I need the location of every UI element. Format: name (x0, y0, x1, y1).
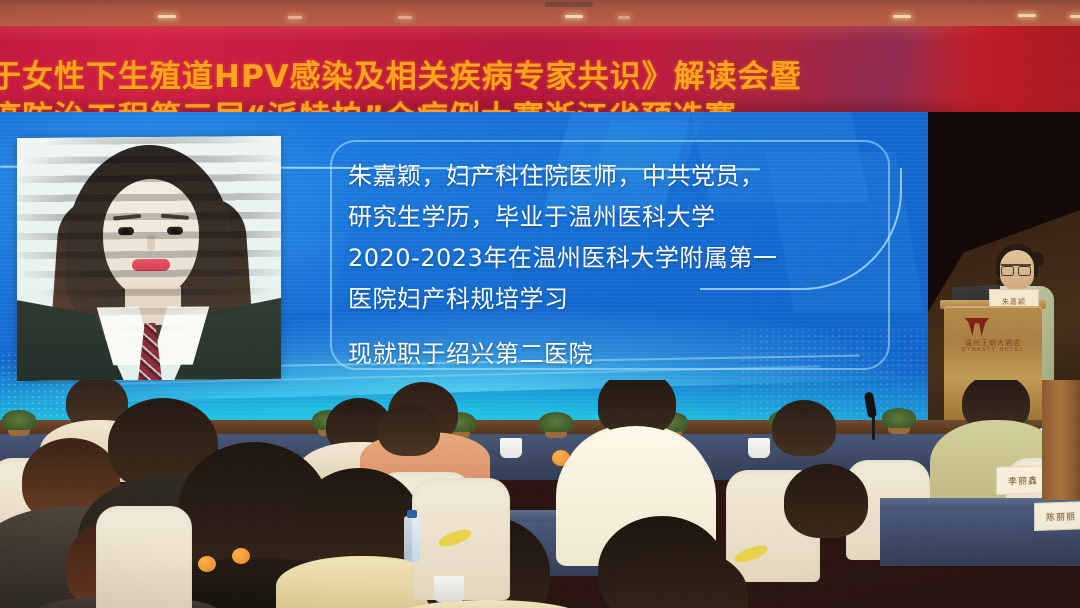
slide-line-3: 2020-2023年在温州医科大学附属第一 (348, 238, 893, 279)
slide-line-1: 朱嘉颖，妇产科住院医师，中共党员， (348, 156, 893, 197)
slide-line-5: 现就职于绍兴第二医院 (348, 334, 893, 375)
desk-microphone (864, 391, 877, 418)
cup (748, 438, 770, 458)
ceiling-light (288, 16, 302, 19)
banner-edge-shadow (920, 26, 1080, 112)
plant (2, 410, 36, 430)
banner-line-2: 癌防治工程第三届“派特柏”介病例大赛浙江省预选赛 (0, 92, 1000, 112)
hall-pillar (1042, 380, 1080, 500)
audience-area: 李丽鑫 陈丽丽 (0, 380, 1080, 608)
slide-line-4: 医院妇产科规培学习 (348, 279, 893, 320)
conference-photo: 于女性下生殖道HPV感染及相关疾病专家共识》解读会暨 癌防治工程第三届“派特柏”… (0, 0, 1080, 608)
event-banner: 于女性下生殖道HPV感染及相关疾病专家共识》解读会暨 癌防治工程第三届“派特柏”… (0, 26, 1080, 112)
orange-fruit (232, 548, 250, 564)
ceiling-light (545, 2, 593, 7)
cup (500, 438, 522, 458)
name-card: 陈丽丽 (1034, 501, 1080, 531)
speaker-glasses (1001, 264, 1031, 274)
slide-line-2: 研究生学历，毕业于温州医科大学 (348, 197, 893, 238)
ceiling-light (893, 15, 911, 18)
ceiling-light (565, 15, 583, 18)
ceiling-light (1070, 15, 1080, 18)
ceiling-light (398, 16, 412, 19)
slide-bio-text: 朱嘉颖，妇产科住院医师，中共党员， 研究生学历，毕业于温州医科大学 2020-2… (348, 156, 893, 375)
bottle-cap (407, 510, 417, 518)
audience-head (772, 400, 836, 456)
ceiling-light (618, 16, 630, 19)
orange-fruit (198, 556, 216, 572)
water-bottle (404, 516, 420, 562)
cup (434, 576, 464, 602)
plant (539, 412, 573, 432)
audience-head (784, 464, 868, 538)
ceiling-light (158, 15, 176, 18)
ceiling-light (1018, 14, 1036, 17)
plant (882, 408, 916, 428)
speaker-portrait-photo (17, 136, 281, 381)
hotel-name-en: DYNASTY HOTEL (944, 347, 1042, 353)
audience-head (378, 404, 440, 456)
banner-line-1: 于女性下生殖道HPV感染及相关疾病专家共识》解读会暨 (0, 51, 1000, 96)
chair (96, 506, 192, 608)
